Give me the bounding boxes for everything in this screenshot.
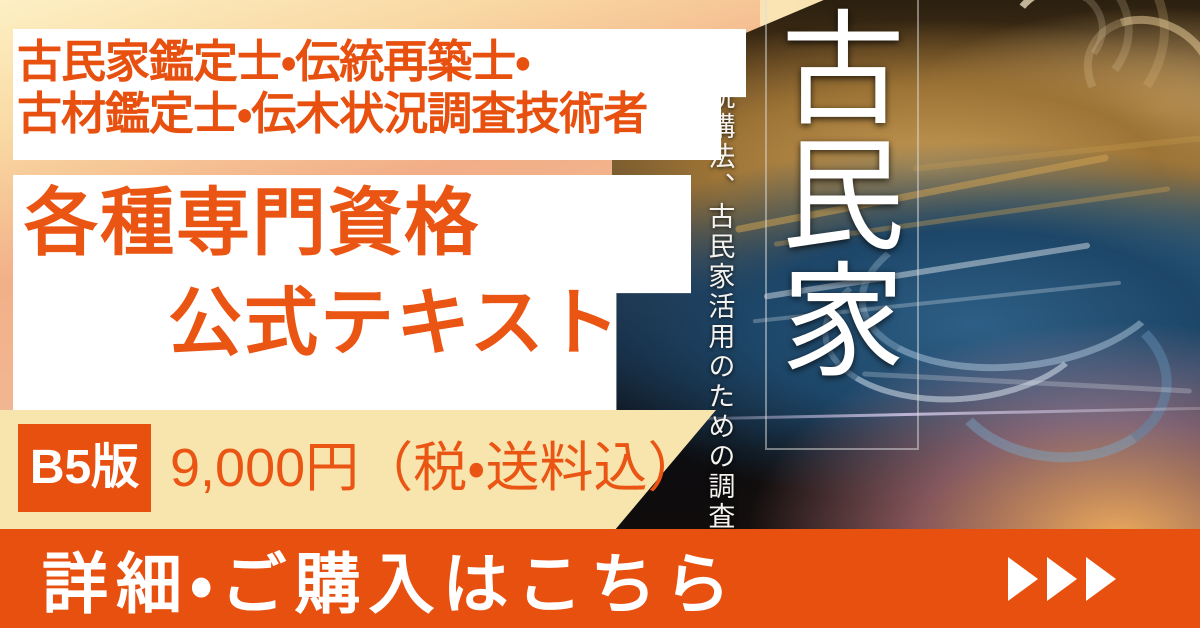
triangle-right-icon — [1047, 557, 1077, 601]
main-title-line-1: 各種専門資格 — [24, 186, 480, 260]
triangle-right-icon — [1086, 557, 1116, 601]
promo-banner: 古民家 伝統構法、古民家活用のための調査と再生の 古民家鑑定士・伝統再築士・ 古… — [0, 0, 1200, 628]
qualifications-line-1: 古民家鑑定士・伝統再築士・ — [17, 36, 530, 88]
main-title-line-2: 公式テキスト — [168, 286, 622, 360]
qualifications-line-2: 古材鑑定士・伝木状況調査技術者 — [17, 88, 647, 140]
price-amount: 9,000円（税・送料込） — [170, 430, 702, 506]
book-title: 古民家 — [780, 4, 902, 382]
format-badge: B5版 — [18, 424, 151, 512]
cta-label[interactable]: 詳細・ご購入はこちら — [42, 529, 738, 628]
triangle-right-icon — [1008, 557, 1038, 601]
cta-arrows[interactable] — [1008, 529, 1116, 628]
